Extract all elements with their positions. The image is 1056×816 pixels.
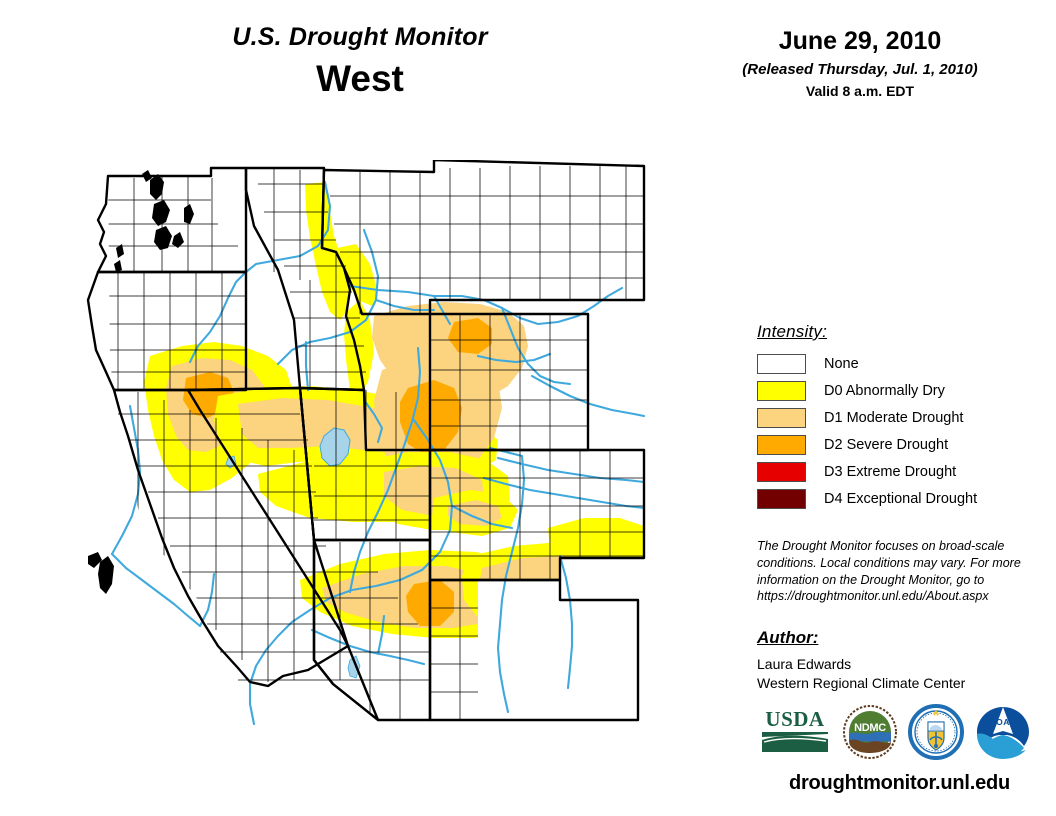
legend-label-d1: D1 Moderate Drought: [824, 410, 963, 426]
author-name: Laura Edwards: [757, 655, 1037, 674]
legend-item-d0: D0 Abnormally Dry: [757, 378, 1037, 403]
author-heading: Author:: [757, 628, 1037, 648]
usda-logo: USDA: [760, 704, 830, 756]
ndmc-logo: NDMC: [842, 704, 898, 760]
disclaimer-line-2: conditions. Local conditions may vary. F…: [757, 555, 1025, 572]
release-date: (Released Thursday, Jul. 1, 2010): [700, 61, 1020, 78]
author-panel: Author: Laura Edwards Western Regional C…: [757, 628, 1037, 693]
svg-text:NOAA: NOAA: [989, 717, 1016, 727]
drought-map: [78, 160, 738, 780]
legend-label-d4: D4 Exceptional Drought: [824, 491, 977, 507]
author-affiliation: Western Regional Climate Center: [757, 674, 1037, 693]
map-date: June 29, 2010: [700, 28, 1020, 56]
legend-item-d1: D1 Moderate Drought: [757, 405, 1037, 430]
legend-panel: Intensity: None D0 Abnormally Dry D1 Mod…: [757, 322, 1037, 513]
legend-label-d2: D2 Severe Drought: [824, 437, 948, 453]
header-title-block: U.S. Drought Monitor West: [150, 24, 570, 100]
site-url[interactable]: droughtmonitor.unl.edu: [757, 772, 1042, 795]
legend-swatch-d3: [757, 462, 806, 482]
valid-time: Valid 8 a.m. EDT: [700, 83, 1020, 99]
legend-item-d3: D3 Extreme Drought: [757, 459, 1037, 484]
legend-item-d4: D4 Exceptional Drought: [757, 486, 1037, 511]
san-francisco-bay: [88, 552, 114, 594]
legend-heading: Intensity:: [757, 322, 1037, 342]
agency-logo-row: USDA NDMC NOAA: [760, 704, 1032, 762]
disclaimer-url[interactable]: https://droughtmonitor.unl.edu/About.asp…: [757, 588, 1025, 605]
header-date-block: June 29, 2010 (Released Thursday, Jul. 1…: [700, 28, 1020, 99]
legend-swatch-d2: [757, 435, 806, 455]
legend-swatch-d1: [757, 408, 806, 428]
noaa-logo: NOAA: [974, 704, 1032, 760]
legend-item-d2: D2 Severe Drought: [757, 432, 1037, 457]
disclaimer-line-1: The Drought Monitor focuses on broad-sca…: [757, 538, 1025, 555]
legend-swatch-none: [757, 354, 806, 374]
disclaimer-text: The Drought Monitor focuses on broad-sca…: [757, 538, 1025, 605]
legend-swatch-d0: [757, 381, 806, 401]
usda-logo-text: USDA: [765, 707, 825, 731]
legend-label-d0: D0 Abnormally Dry: [824, 383, 945, 399]
disclaimer-line-3: information on the Drought Monitor, go t…: [757, 572, 1025, 589]
legend-label-none: None: [824, 356, 859, 372]
page-title: U.S. Drought Monitor: [150, 24, 570, 52]
legend-label-d3: D3 Extreme Drought: [824, 464, 956, 480]
region-title: West: [150, 58, 570, 101]
university-seal-logo: [908, 704, 964, 760]
legend-swatch-d4: [757, 489, 806, 509]
ndmc-logo-text: NDMC: [854, 722, 886, 734]
legend-item-none: None: [757, 351, 1037, 376]
